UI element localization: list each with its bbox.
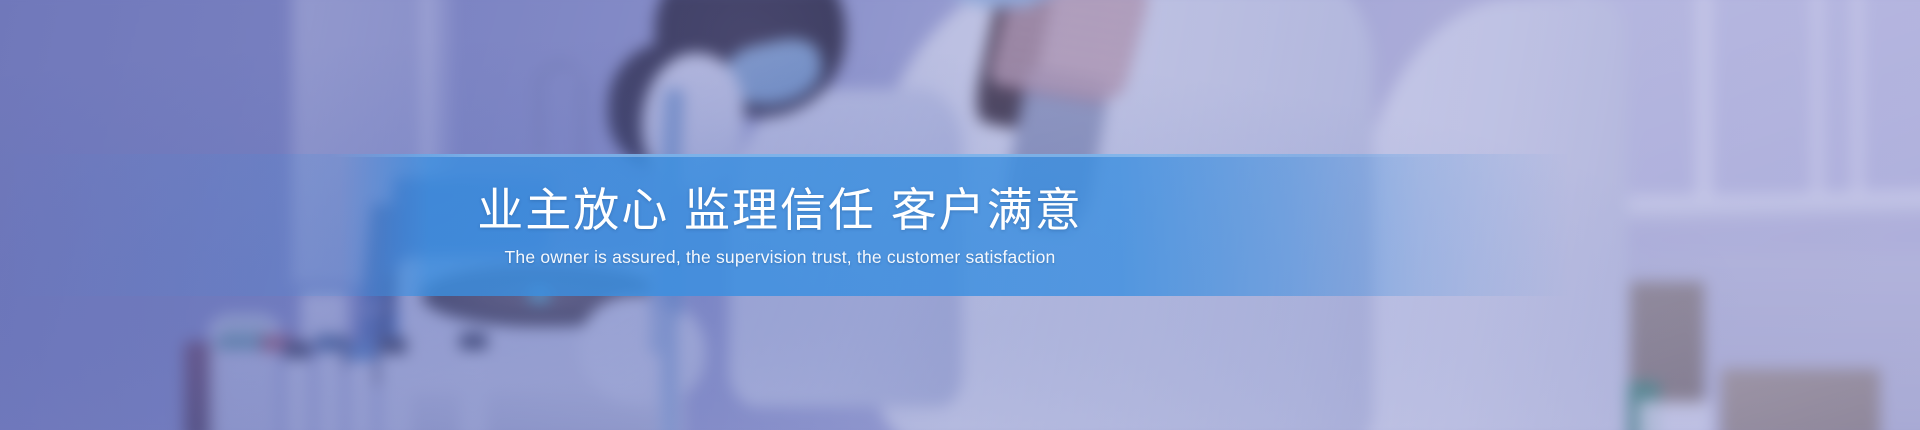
hero-banner: 业主放心 监理信任 客户满意 The owner is assured, the… xyxy=(0,0,1920,430)
banner-subheadline: The owner is assured, the supervision tr… xyxy=(505,246,1056,269)
banner-headline: 业主放心 监理信任 客户满意 xyxy=(477,185,1083,237)
banner-copy: 业主放心 监理信任 客户满意 The owner is assured, the… xyxy=(0,154,1560,296)
